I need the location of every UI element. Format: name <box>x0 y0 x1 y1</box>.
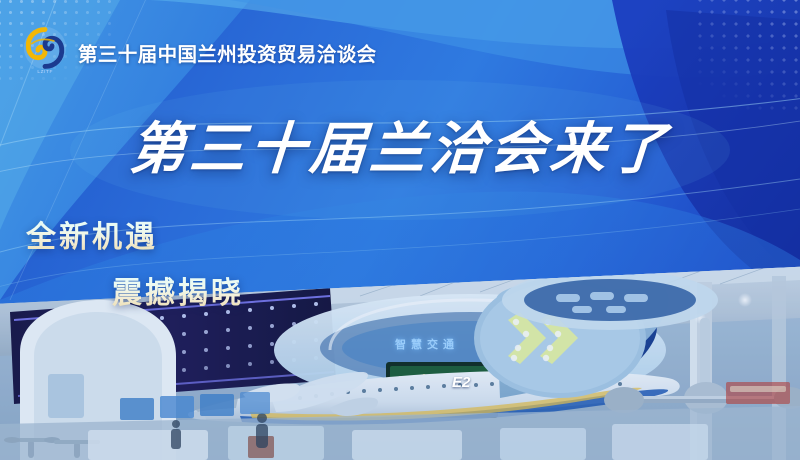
logo-subtext: LZITF <box>37 69 53 75</box>
fair-name-title: 第三十届中国兰州投资贸易洽谈会 <box>78 38 377 67</box>
promo-banner: 智慧交通 E2 LZITF 第三十届中国兰州投资贸易洽谈会 第三十届兰洽会来了 … <box>0 0 800 460</box>
slogan-group: 全新机遇 震撼揭晓 <box>26 212 244 312</box>
slogan-line-1: 全新机遇 <box>26 212 244 256</box>
aircraft-marking-label: E2 <box>452 374 470 391</box>
page-title: 第三十届兰洽会来了 <box>0 104 800 185</box>
booth-sign-label: 智慧交通 <box>395 336 459 352</box>
lanzhou-fair-logo-icon <box>23 26 67 70</box>
banner-header: LZITF 第三十届中国兰州投资贸易洽谈会 <box>22 26 377 78</box>
slogan-line-2: 震撼揭晓 <box>112 268 244 312</box>
logo-wrap: LZITF <box>22 26 68 78</box>
